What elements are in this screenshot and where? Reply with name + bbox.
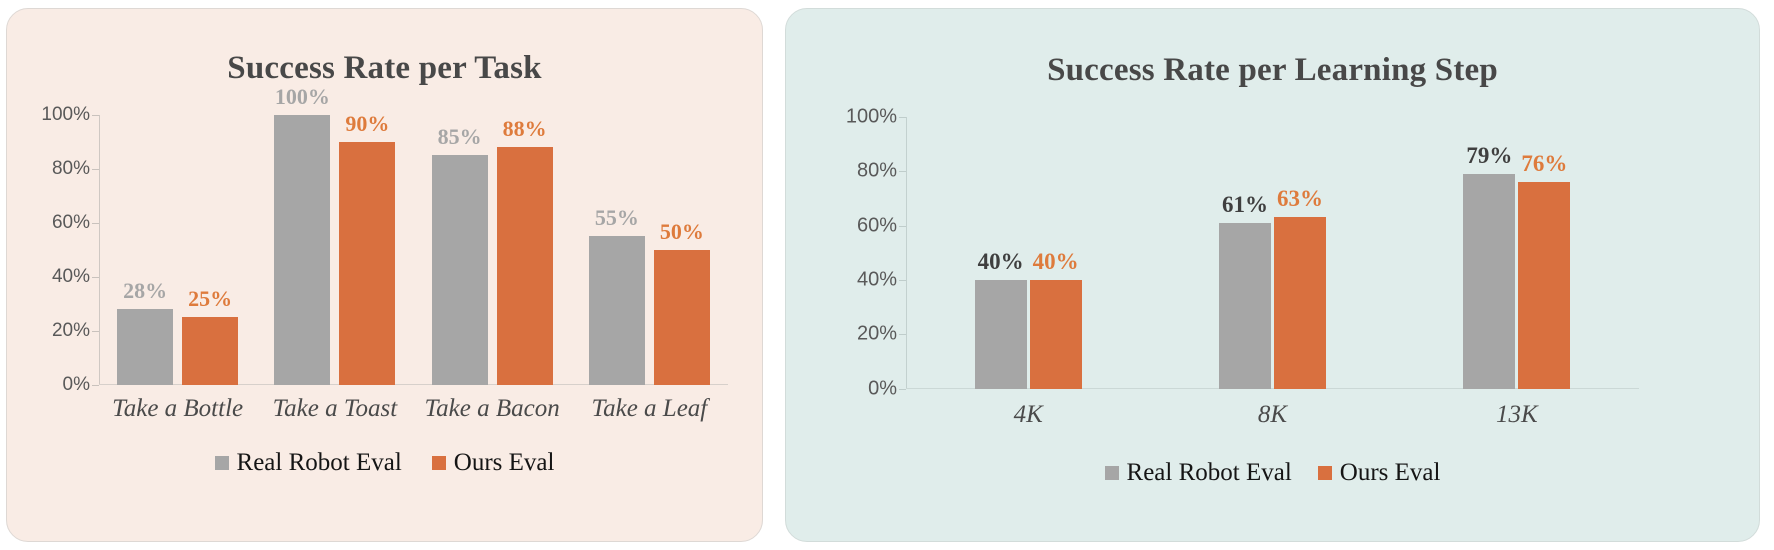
plot-wrap-task: 28%25%100%90%85%88%55%50% 0%20%40%60%80%… xyxy=(99,115,728,385)
bar-group: 28%25% xyxy=(99,115,256,385)
bar-group: 85%88% xyxy=(414,115,571,385)
bar[interactable] xyxy=(182,317,238,385)
y-axis-tick-label: 100% xyxy=(41,104,90,126)
y-axis-tick-mark xyxy=(899,117,906,118)
y-axis-tick-mark xyxy=(92,115,99,116)
y-axis-tick-label: 20% xyxy=(857,323,897,346)
legend-label: Real Robot Eval xyxy=(1127,459,1292,487)
y-axis-tick-label: 0% xyxy=(868,377,897,400)
bar-value-label: 79% xyxy=(1466,143,1512,169)
bar[interactable] xyxy=(975,280,1027,389)
y-axis-tick-label: 60% xyxy=(857,214,897,237)
bar-column[interactable]: 88% xyxy=(497,115,553,385)
bar-column[interactable]: 40% xyxy=(975,117,1027,389)
y-axis-tick-label: 60% xyxy=(52,212,90,234)
bar-value-label: 63% xyxy=(1277,186,1323,212)
x-category-labels-task: Take a BottleTake a ToastTake a BaconTak… xyxy=(99,395,728,423)
x-category-label: Take a Toast xyxy=(256,395,413,423)
bar[interactable] xyxy=(589,236,645,385)
bar-value-label: 25% xyxy=(188,286,232,312)
bar[interactable] xyxy=(1219,223,1271,389)
legend-label: Ours Eval xyxy=(1340,459,1441,487)
x-category-labels-learning-step: 4K8K13K xyxy=(906,401,1639,429)
plot-wrap-learning-step: 40%40%61%63%79%76% 0%20%40%60%80%100% xyxy=(906,117,1639,389)
bar-column[interactable]: 61% xyxy=(1219,117,1271,389)
bar[interactable] xyxy=(497,147,553,385)
y-axis-tick-label: 100% xyxy=(846,105,897,128)
bar-value-label: 90% xyxy=(345,111,389,137)
bar[interactable] xyxy=(432,155,488,385)
bar-value-label: 85% xyxy=(438,124,482,150)
bar-group: 61%63% xyxy=(1150,117,1394,389)
y-axis-tick-mark xyxy=(92,169,99,170)
chart-panel-learning-step: Success Rate per Learning Step 40%40%61%… xyxy=(785,8,1760,542)
bar-value-label: 55% xyxy=(595,205,639,231)
y-axis-tick-label: 80% xyxy=(857,160,897,183)
bar-column[interactable]: 50% xyxy=(654,115,710,385)
legend-item[interactable]: Real Robot Eval xyxy=(1105,459,1292,487)
bar-group: 55%50% xyxy=(571,115,728,385)
bar-value-label: 50% xyxy=(660,219,704,245)
bar-group: 79%76% xyxy=(1395,117,1639,389)
bar-column[interactable]: 85% xyxy=(432,115,488,385)
bar-column[interactable]: 100% xyxy=(274,115,330,385)
plot-area-learning-step: 40%40%61%63%79%76% 0%20%40%60%80%100% xyxy=(906,117,1639,389)
legend-item[interactable]: Ours Eval xyxy=(1318,459,1441,487)
figure-board: Success Rate per Task 28%25%100%90%85%88… xyxy=(0,0,1774,550)
y-axis-tick-mark xyxy=(899,226,906,227)
y-axis-tick-label: 0% xyxy=(63,374,90,396)
x-category-label: Take a Leaf xyxy=(571,395,728,423)
y-axis-tick-mark xyxy=(92,331,99,332)
x-category-label: 13K xyxy=(1395,401,1639,429)
bar-column[interactable]: 25% xyxy=(182,115,238,385)
bar-value-label: 40% xyxy=(1033,249,1079,275)
bar[interactable] xyxy=(1030,280,1082,389)
bar-group: 100%90% xyxy=(256,115,413,385)
bar[interactable] xyxy=(274,115,330,385)
bar-value-label: 100% xyxy=(275,84,330,110)
bar[interactable] xyxy=(1463,174,1515,389)
bar-column[interactable]: 40% xyxy=(1030,117,1082,389)
legend-learning-step: Real Robot EvalOurs Eval xyxy=(786,459,1759,487)
bar-groups-task: 28%25%100%90%85%88%55%50% xyxy=(99,115,728,385)
legend-swatch-orange-icon xyxy=(432,456,446,470)
bar-groups-learning-step: 40%40%61%63%79%76% xyxy=(906,117,1639,389)
bar-column[interactable]: 28% xyxy=(117,115,173,385)
bar-value-label: 40% xyxy=(978,249,1024,275)
bar[interactable] xyxy=(1274,217,1326,388)
legend-item[interactable]: Real Robot Eval xyxy=(215,449,402,477)
bar[interactable] xyxy=(654,250,710,385)
y-axis-tick-mark xyxy=(92,277,99,278)
y-axis-tick-mark xyxy=(899,334,906,335)
bar-column[interactable]: 90% xyxy=(339,115,395,385)
bar-column[interactable]: 55% xyxy=(589,115,645,385)
bar-group: 40%40% xyxy=(906,117,1150,389)
legend-label: Real Robot Eval xyxy=(237,449,402,477)
bar-value-label: 88% xyxy=(503,116,547,142)
legend-swatch-gray-icon xyxy=(1105,466,1119,480)
bar-column[interactable]: 63% xyxy=(1274,117,1326,389)
bar[interactable] xyxy=(339,142,395,385)
y-axis-tick-label: 20% xyxy=(52,320,90,342)
y-axis-tick-mark xyxy=(899,171,906,172)
chart-panel-task: Success Rate per Task 28%25%100%90%85%88… xyxy=(6,8,763,542)
y-axis-tick-mark xyxy=(899,389,906,390)
legend-task: Real Robot EvalOurs Eval xyxy=(7,449,762,477)
x-category-label: Take a Bottle xyxy=(99,395,256,423)
y-axis-tick-mark xyxy=(92,385,99,386)
plot-area-task: 28%25%100%90%85%88%55%50% 0%20%40%60%80%… xyxy=(99,115,728,385)
bar[interactable] xyxy=(1518,182,1570,389)
bar-column[interactable]: 76% xyxy=(1518,117,1570,389)
bar-value-label: 28% xyxy=(123,278,167,304)
y-axis-tick-mark xyxy=(899,280,906,281)
x-category-label: Take a Bacon xyxy=(414,395,571,423)
y-axis-tick-label: 40% xyxy=(857,268,897,291)
legend-swatch-gray-icon xyxy=(215,456,229,470)
bar-value-label: 61% xyxy=(1222,192,1268,218)
x-category-label: 8K xyxy=(1150,401,1394,429)
chart-title-learning-step: Success Rate per Learning Step xyxy=(786,36,1759,89)
y-axis-tick-label: 80% xyxy=(52,158,90,180)
legend-label: Ours Eval xyxy=(454,449,555,477)
bar[interactable] xyxy=(117,309,173,385)
bar-column[interactable]: 79% xyxy=(1463,117,1515,389)
chart-title-task: Success Rate per Task xyxy=(7,36,762,87)
x-category-label: 4K xyxy=(906,401,1150,429)
y-axis-tick-label: 40% xyxy=(52,266,90,288)
bar-value-label: 76% xyxy=(1521,151,1567,177)
legend-item[interactable]: Ours Eval xyxy=(432,449,555,477)
y-axis-tick-mark xyxy=(92,223,99,224)
legend-swatch-orange-icon xyxy=(1318,466,1332,480)
